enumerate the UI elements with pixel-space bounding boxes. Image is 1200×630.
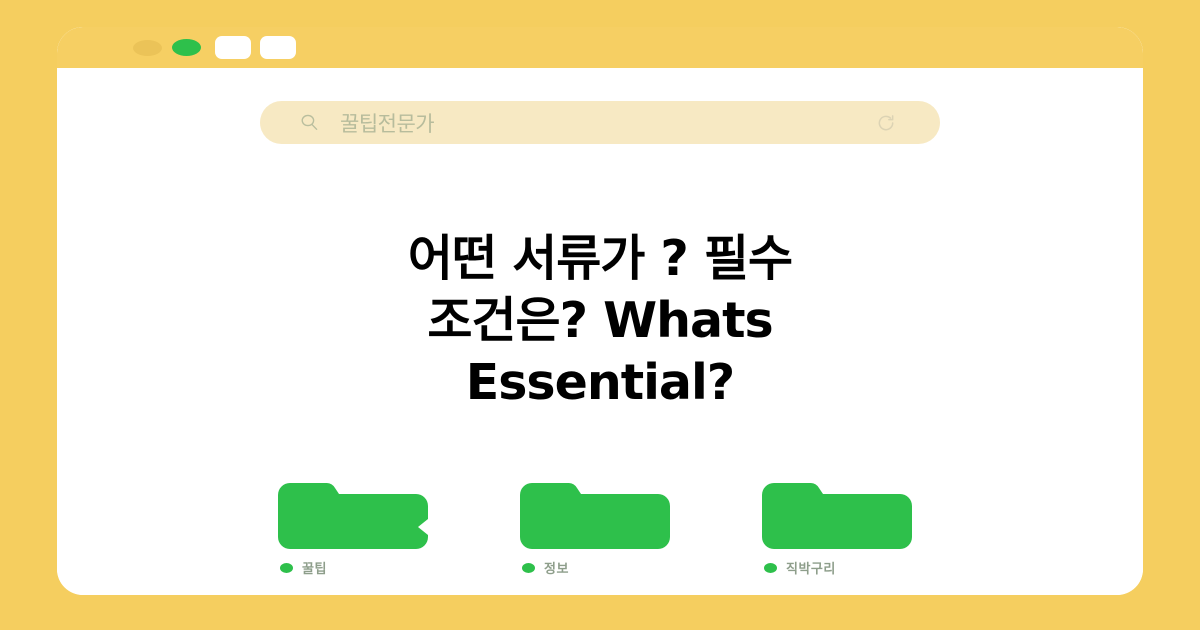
browser-tab-2[interactable] xyxy=(260,36,296,59)
folder-item[interactable]: 직박구리 xyxy=(756,483,928,577)
page-title: 어떤 서류가 ? 필수 조건은? Whats Essential? xyxy=(57,228,1143,414)
folder-label: 꿀팁 xyxy=(280,558,327,577)
status-dot-icon xyxy=(522,563,535,573)
page-canvas: 꿀팁전문가 어떤 서류가 ? 필수 조건은? Whats Essential? xyxy=(0,0,1200,630)
folder-label-text: 직박구리 xyxy=(786,558,836,577)
search-icon xyxy=(300,113,319,132)
browser-titlebar xyxy=(57,27,1143,68)
browser-tab-1[interactable] xyxy=(215,36,251,59)
browser-content: 꿀팁전문가 어떤 서류가 ? 필수 조건은? Whats Essential? xyxy=(57,68,1143,595)
folder-item[interactable]: 꿀팁 xyxy=(272,483,444,577)
folder-icon xyxy=(762,483,912,549)
page-title-line-1: 어떤 서류가 ? 필수 xyxy=(57,228,1143,290)
search-input-value[interactable]: 꿀팁전문가 xyxy=(340,108,434,138)
folder-icon xyxy=(278,483,428,549)
reload-icon[interactable] xyxy=(876,113,896,133)
search-bar[interactable]: 꿀팁전문가 xyxy=(260,101,940,144)
page-title-line-2: 조건은? Whats xyxy=(57,290,1143,352)
active-dot-icon xyxy=(172,39,201,56)
browser-window: 꿀팁전문가 어떤 서류가 ? 필수 조건은? Whats Essential? xyxy=(57,27,1143,595)
folder-icon xyxy=(520,483,670,549)
folder-label-text: 정보 xyxy=(544,558,569,577)
folder-label: 정보 xyxy=(522,558,569,577)
status-dot-icon xyxy=(764,563,777,573)
folder-label-text: 꿀팁 xyxy=(302,558,327,577)
page-title-line-3: Essential? xyxy=(57,352,1143,414)
folder-item[interactable]: 정보 xyxy=(514,483,686,577)
inactive-dot-icon xyxy=(133,40,162,56)
status-dot-icon xyxy=(280,563,293,573)
folder-list: 꿀팁 정보 xyxy=(57,483,1143,577)
folder-label: 직박구리 xyxy=(764,558,836,577)
